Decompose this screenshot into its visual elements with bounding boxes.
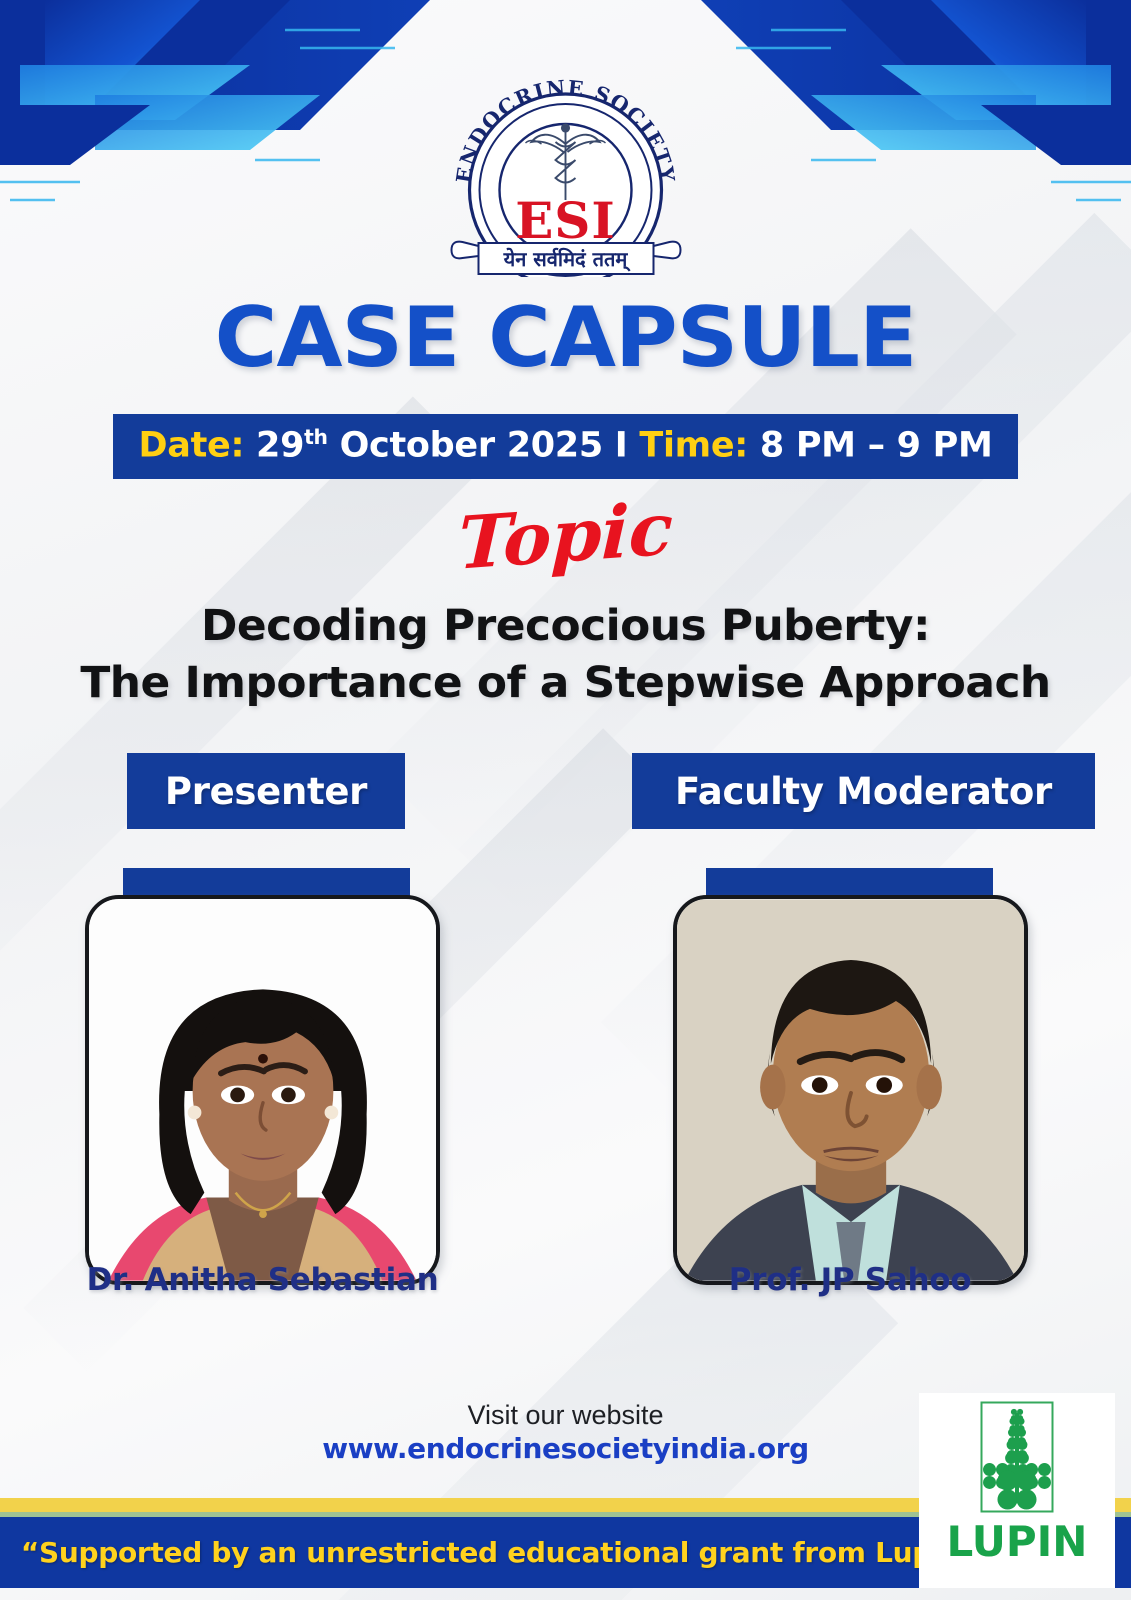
esi-logo: ENDOCRINE SOCIETY OF INDIA ESI येन सर्वम… (428, 72, 703, 277)
time-label: Time: (639, 426, 748, 466)
presenter-photo-frame (85, 895, 440, 1285)
role-band-presenter: Presenter (127, 753, 405, 829)
topic-script-label: Topic (0, 460, 1131, 611)
role-band-faculty-moderator: Faculty Moderator (632, 753, 1095, 829)
moderator-photo-frame (673, 895, 1028, 1285)
lupin-flower-icon (980, 1401, 1054, 1513)
grant-acknowledgement: “Supported by an unrestricted educationa… (0, 1517, 1000, 1588)
date-label: Date: (139, 426, 245, 466)
lupin-wordmark: LUPIN (947, 1517, 1088, 1566)
date-rest: October 2025 I (340, 426, 640, 466)
poster-canvas: ENDOCRINE SOCIETY OF INDIA ESI येन सर्वम… (0, 0, 1131, 1600)
topic-line-1: Decoding Precocious Puberty: (0, 598, 1131, 655)
logo-acronym: ESI (515, 191, 616, 250)
date-time-band: Date: 29th October 2025 I Time: 8 PM – 9… (113, 414, 1019, 479)
date-day: 29 (256, 426, 304, 466)
page-title: CASE CAPSULE (0, 296, 1131, 379)
time-value: 8 PM – 9 PM (760, 426, 993, 466)
moderator-name: Prof. JP Sahoo (640, 1262, 1060, 1298)
logo-sanskrit-motto: येन सर्वमिदं ततम् (502, 247, 631, 272)
topic-line-2: The Importance of a Stepwise Approach (0, 655, 1131, 712)
topic-heading: Decoding Precocious Puberty: The Importa… (0, 598, 1131, 712)
presenter-portrait (89, 899, 436, 1281)
moderator-portrait (677, 899, 1024, 1281)
lupin-sponsor-logo: LUPIN (919, 1393, 1115, 1588)
presenter-name: Dr. Anitha Sebastian (45, 1262, 480, 1298)
date-ordinal-suffix: th (304, 425, 328, 449)
